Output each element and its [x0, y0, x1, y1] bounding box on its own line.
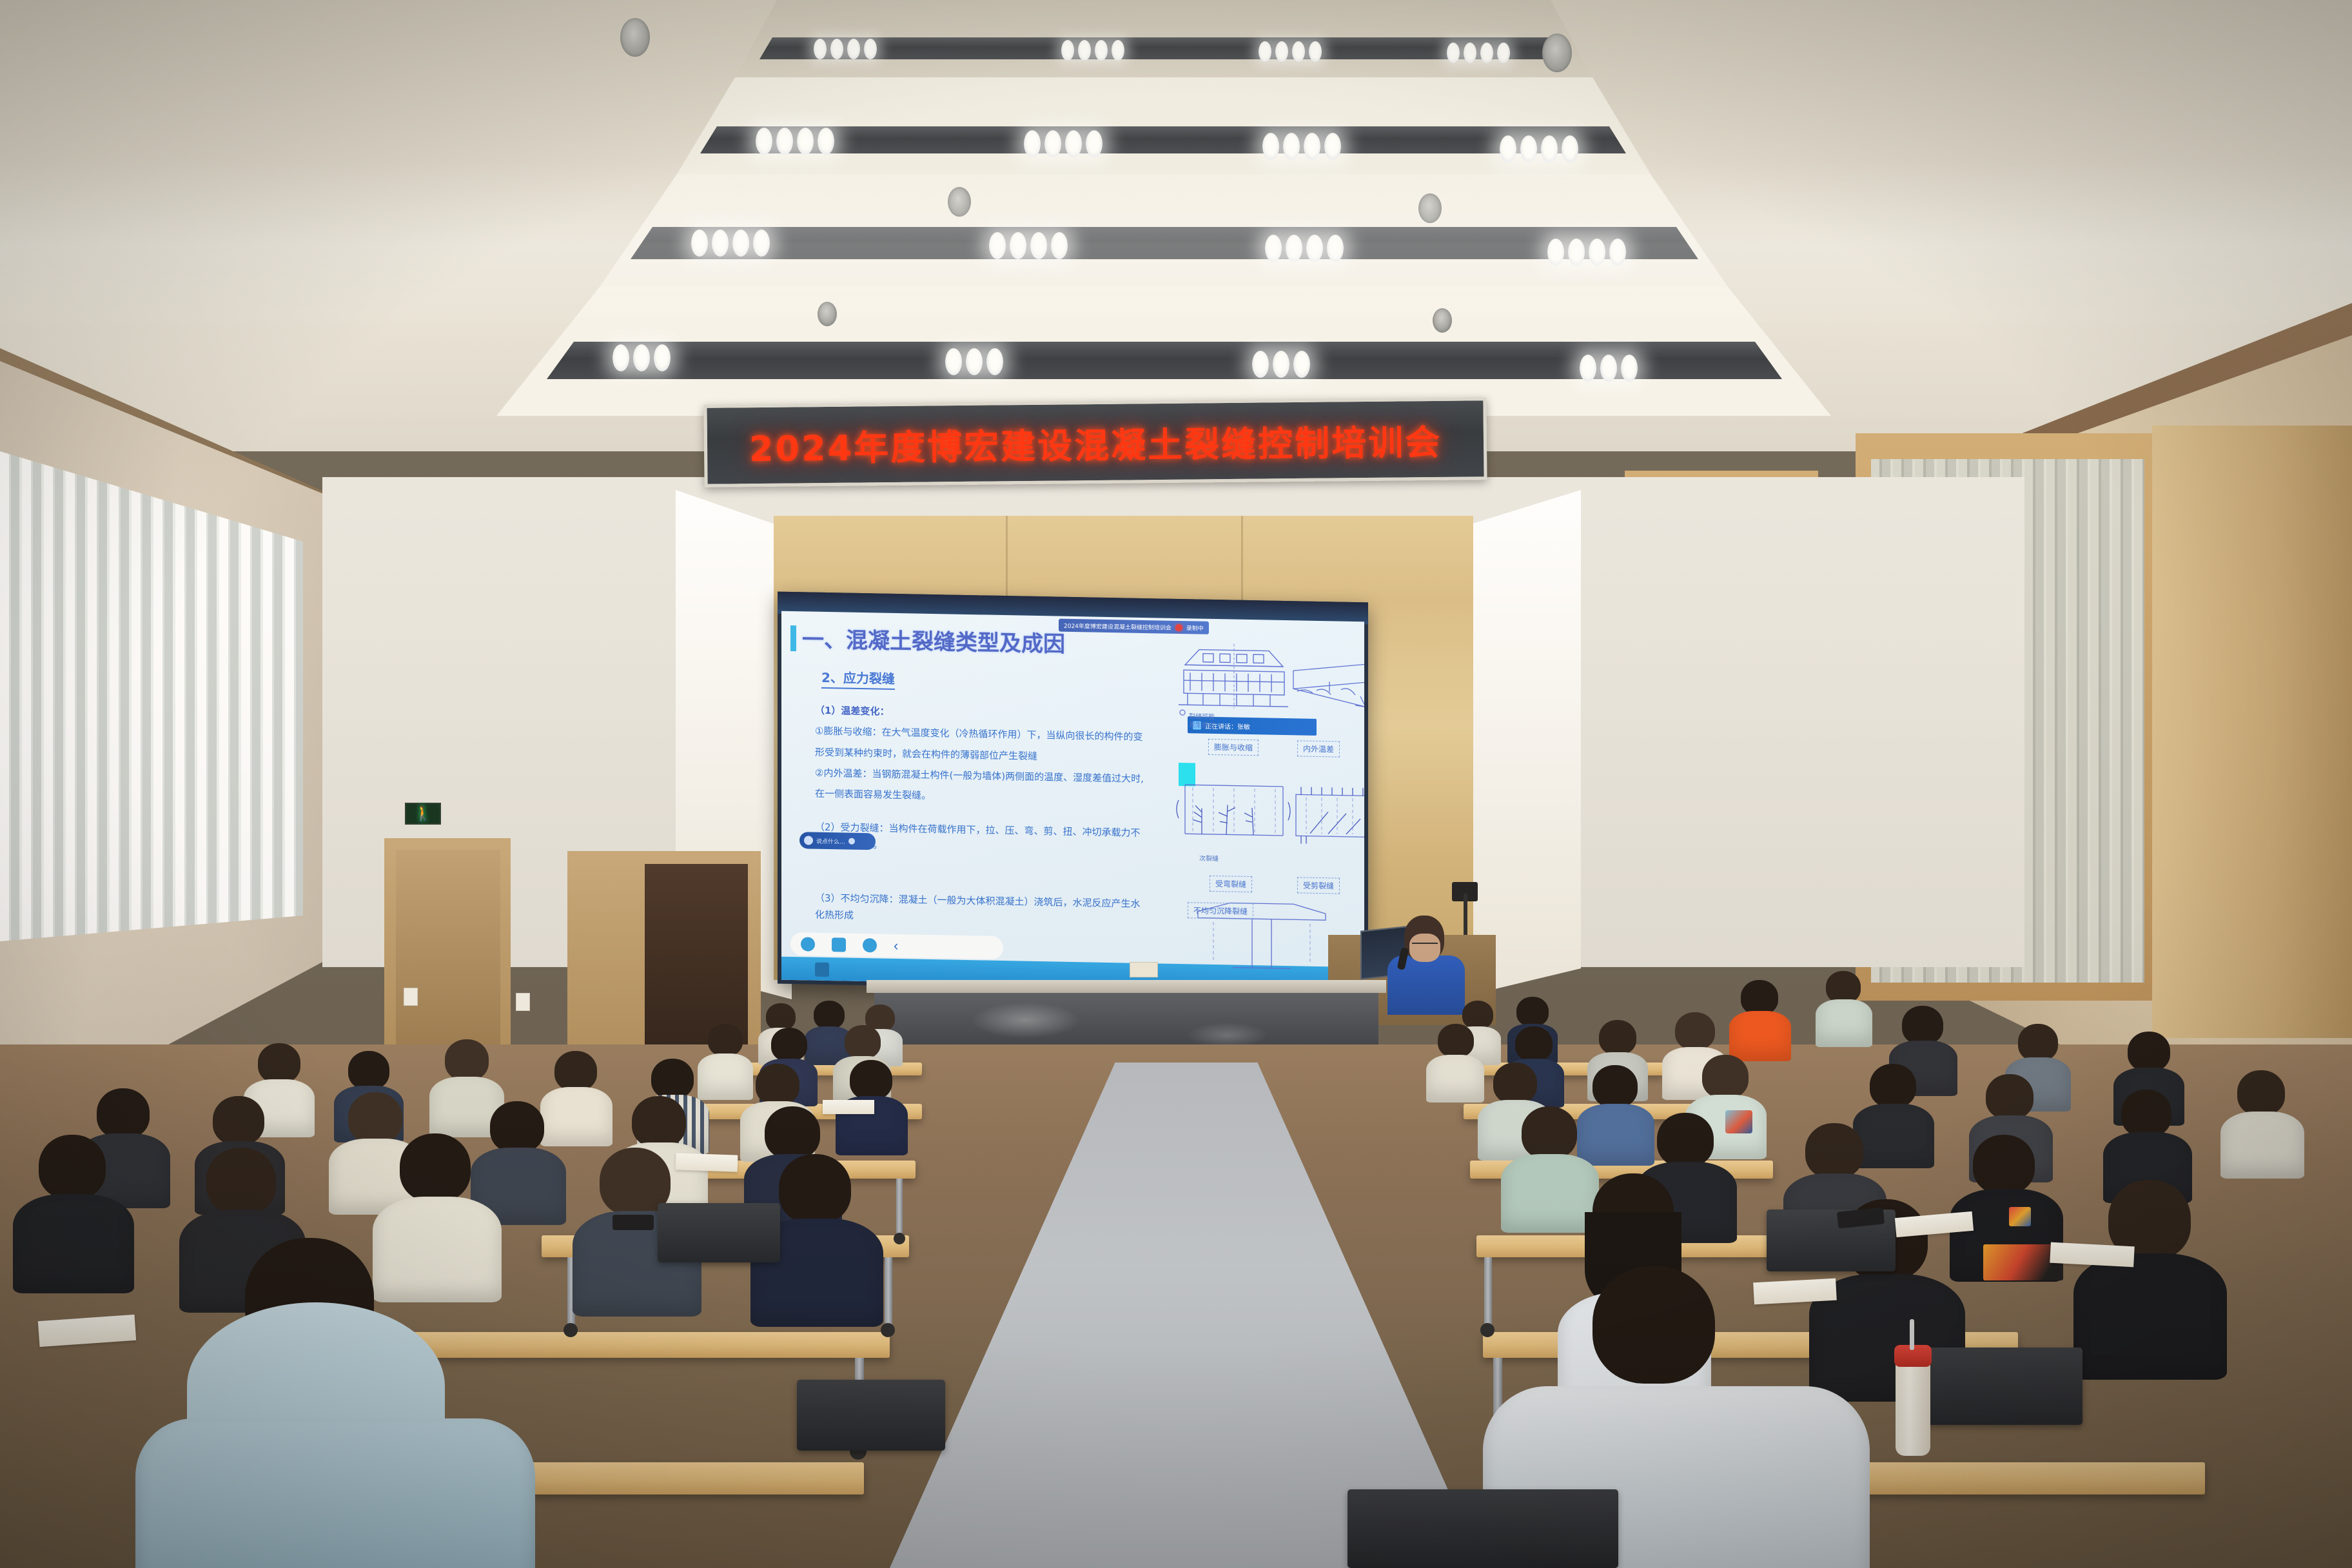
diagram-note-crack-location: 裂缝可能发生部位	[1189, 712, 1215, 730]
ceiling-lamp-cluster	[1061, 40, 1124, 61]
desk-leg	[896, 1179, 903, 1237]
projection-screen: 一、混凝土裂缝类型及成因 2、应力裂缝 （1）温差变化： ①膨胀与收缩：在大气温…	[778, 592, 1368, 995]
tumbler-straw	[1910, 1319, 1914, 1350]
desk-leg	[885, 1257, 892, 1328]
ceiling-speaker	[818, 302, 837, 326]
diagram-note-secondary-crack: 次裂缝	[1199, 855, 1219, 864]
meeting-title: 2024年度博宏建设混凝土裂缝控制培训会	[1064, 621, 1171, 631]
stage-front-top-edge	[867, 980, 1386, 993]
desk	[400, 1332, 890, 1358]
ceiling-lamp-cluster	[1262, 133, 1341, 160]
section-2-line-1: 当构件在荷载作用下，拉、压、弯、剪、扭、冲切承载力不	[889, 823, 1141, 839]
ceiling-lamp-cluster	[945, 348, 1003, 375]
comment-icon	[804, 836, 813, 845]
led-banner-text: 2024年度博宏建设混凝土裂缝控制培训会	[749, 413, 1442, 471]
ceiling-lamp-cluster	[612, 344, 671, 371]
running-man-icon: 🚶	[414, 807, 431, 821]
section-1-line-4: 在一侧表面容易发生裂缝。	[815, 785, 1150, 808]
presenter-face	[1409, 934, 1440, 962]
recording-label: 录制中	[1186, 623, 1204, 632]
taskbar-app-icon[interactable]	[815, 963, 829, 977]
hoodie-body	[135, 1418, 535, 1568]
led-banner: 2024年度博宏建设混凝土裂缝控制培训会	[703, 397, 1487, 487]
camera-icon[interactable]	[832, 937, 846, 952]
ceiling-speaker	[948, 187, 971, 217]
ceiling-lamp-cluster	[1500, 135, 1578, 162]
ceiling-lamp-cluster	[691, 230, 770, 257]
ceiling-lamp-cluster	[1265, 235, 1344, 262]
diagram-caption-5: 不均匀沉降裂缝	[1188, 902, 1253, 919]
smartphone[interactable]	[612, 1215, 654, 1230]
diagram-caption-4: 受剪裂缝	[1297, 877, 1340, 894]
section-3-heading: （3）不均匀沉降：	[815, 892, 899, 905]
notebook	[823, 1100, 874, 1114]
ceiling-lamp-cluster	[814, 39, 877, 59]
ceiling-lamp-cluster	[1580, 355, 1638, 382]
ceiling-lamp-cluster	[1547, 239, 1626, 266]
slide-section-3: （3）不均匀沉降：混凝土（一般为大体积混凝土）浇筑后，水泥反应产生水 化热形成	[815, 890, 1150, 930]
comment-pill-button[interactable]: 说点什么...	[799, 832, 876, 850]
meeting-toolbar[interactable]: ‹	[790, 932, 1003, 959]
chair-back	[658, 1203, 780, 1262]
wall-power-outlet	[1130, 962, 1158, 977]
section-1-line-2: 形受到某种约束时，就会在构件的薄弱部位产生裂缝	[815, 743, 1150, 767]
more-icon[interactable]	[863, 938, 877, 952]
water-tumbler	[1896, 1359, 1930, 1456]
ceiling-speaker	[620, 18, 650, 57]
slide-subtitle: 2、应力裂缝	[821, 667, 895, 690]
ceiling-speaker	[1542, 34, 1572, 72]
desk-caster	[1480, 1323, 1494, 1337]
chair-back	[1347, 1489, 1618, 1568]
back-icon[interactable]: ‹	[894, 939, 908, 953]
slide-section-1: （1）温差变化： ①膨胀与收缩：在大气温度变化（冷热循环作用）下，当纵向很长的构…	[815, 702, 1150, 812]
light-switch[interactable]	[404, 988, 418, 1006]
ceiling-lamp-cluster	[1259, 41, 1322, 62]
presenter-glasses	[1412, 943, 1438, 948]
diagram-shear-crack	[1291, 783, 1364, 856]
right-wall-wood-pilaster	[2152, 426, 2352, 1038]
section-3-line-1: 混凝土（一般为大体积混凝土）浇筑后，水泥反应产生水	[899, 894, 1141, 910]
section-1-heading: （1）温差变化：	[815, 705, 889, 718]
ceiling-lamp-cluster	[1252, 351, 1310, 378]
diagram-temperature-difference	[1291, 655, 1364, 727]
refresh-icon[interactable]	[801, 937, 815, 951]
ceiling-speaker	[1418, 193, 1442, 223]
notebook	[676, 1153, 738, 1171]
ceiling-lamp-cluster	[1024, 130, 1102, 157]
chair-back	[797, 1380, 945, 1451]
meeting-title-bar: 2024年度博宏建设混凝土裂缝控制培训会 录制中	[1059, 619, 1209, 634]
diagram-bending-crack	[1173, 778, 1293, 854]
ceiling-lamp-cluster	[1447, 43, 1510, 63]
tshirt-graphic	[1725, 1110, 1752, 1133]
send-icon	[848, 838, 855, 845]
desk-caster	[894, 1233, 905, 1244]
section-1-line-1: ①膨胀与收缩：在大气温度变化（冷热循环作用）下，当纵向很长的构件的变	[815, 723, 1150, 746]
desk-caster	[881, 1323, 895, 1337]
slide-title: 一、混凝土裂缝类型及成因	[802, 622, 1065, 658]
left-doorway-opening[interactable]	[396, 850, 500, 1051]
desk-leg	[1484, 1257, 1492, 1328]
light-switch[interactable]	[516, 993, 530, 1011]
diagram-caption-3: 受弯裂缝	[1210, 876, 1252, 892]
ceiling-lamp-cluster	[756, 128, 834, 155]
chair-back	[1921, 1347, 2082, 1425]
comment-placeholder: 说点什么...	[816, 836, 845, 845]
ceiling-lamp-cluster	[989, 232, 1068, 259]
notebook	[2050, 1242, 2134, 1268]
ceiling-speaker	[1433, 308, 1452, 333]
tshirt-graphic-patch	[2009, 1207, 2031, 1226]
recording-indicator-icon	[1175, 623, 1182, 631]
diagram-caption-1: 膨胀与收缩	[1208, 739, 1259, 756]
exit-sign: 🚶	[405, 803, 441, 825]
slide-accent-bar	[790, 625, 796, 651]
notebook	[1753, 1279, 1837, 1305]
diagram-caption-2: 内外温差	[1297, 740, 1340, 757]
section-1-line-3: ②内外温差：当钢筋混凝土构件(一般为墙体)两侧面的温度、湿度差值过大时,	[815, 764, 1150, 787]
desk-caster	[563, 1323, 578, 1337]
slide-content: 一、混凝土裂缝类型及成因 2、应力裂缝 （1）温差变化： ①膨胀与收缩：在大气温…	[781, 611, 1364, 991]
conference-photo: 2024年度博宏建设混凝土裂缝控制培训会 一、混凝土裂缝类型及成因 2、应力裂缝…	[0, 0, 2352, 1568]
